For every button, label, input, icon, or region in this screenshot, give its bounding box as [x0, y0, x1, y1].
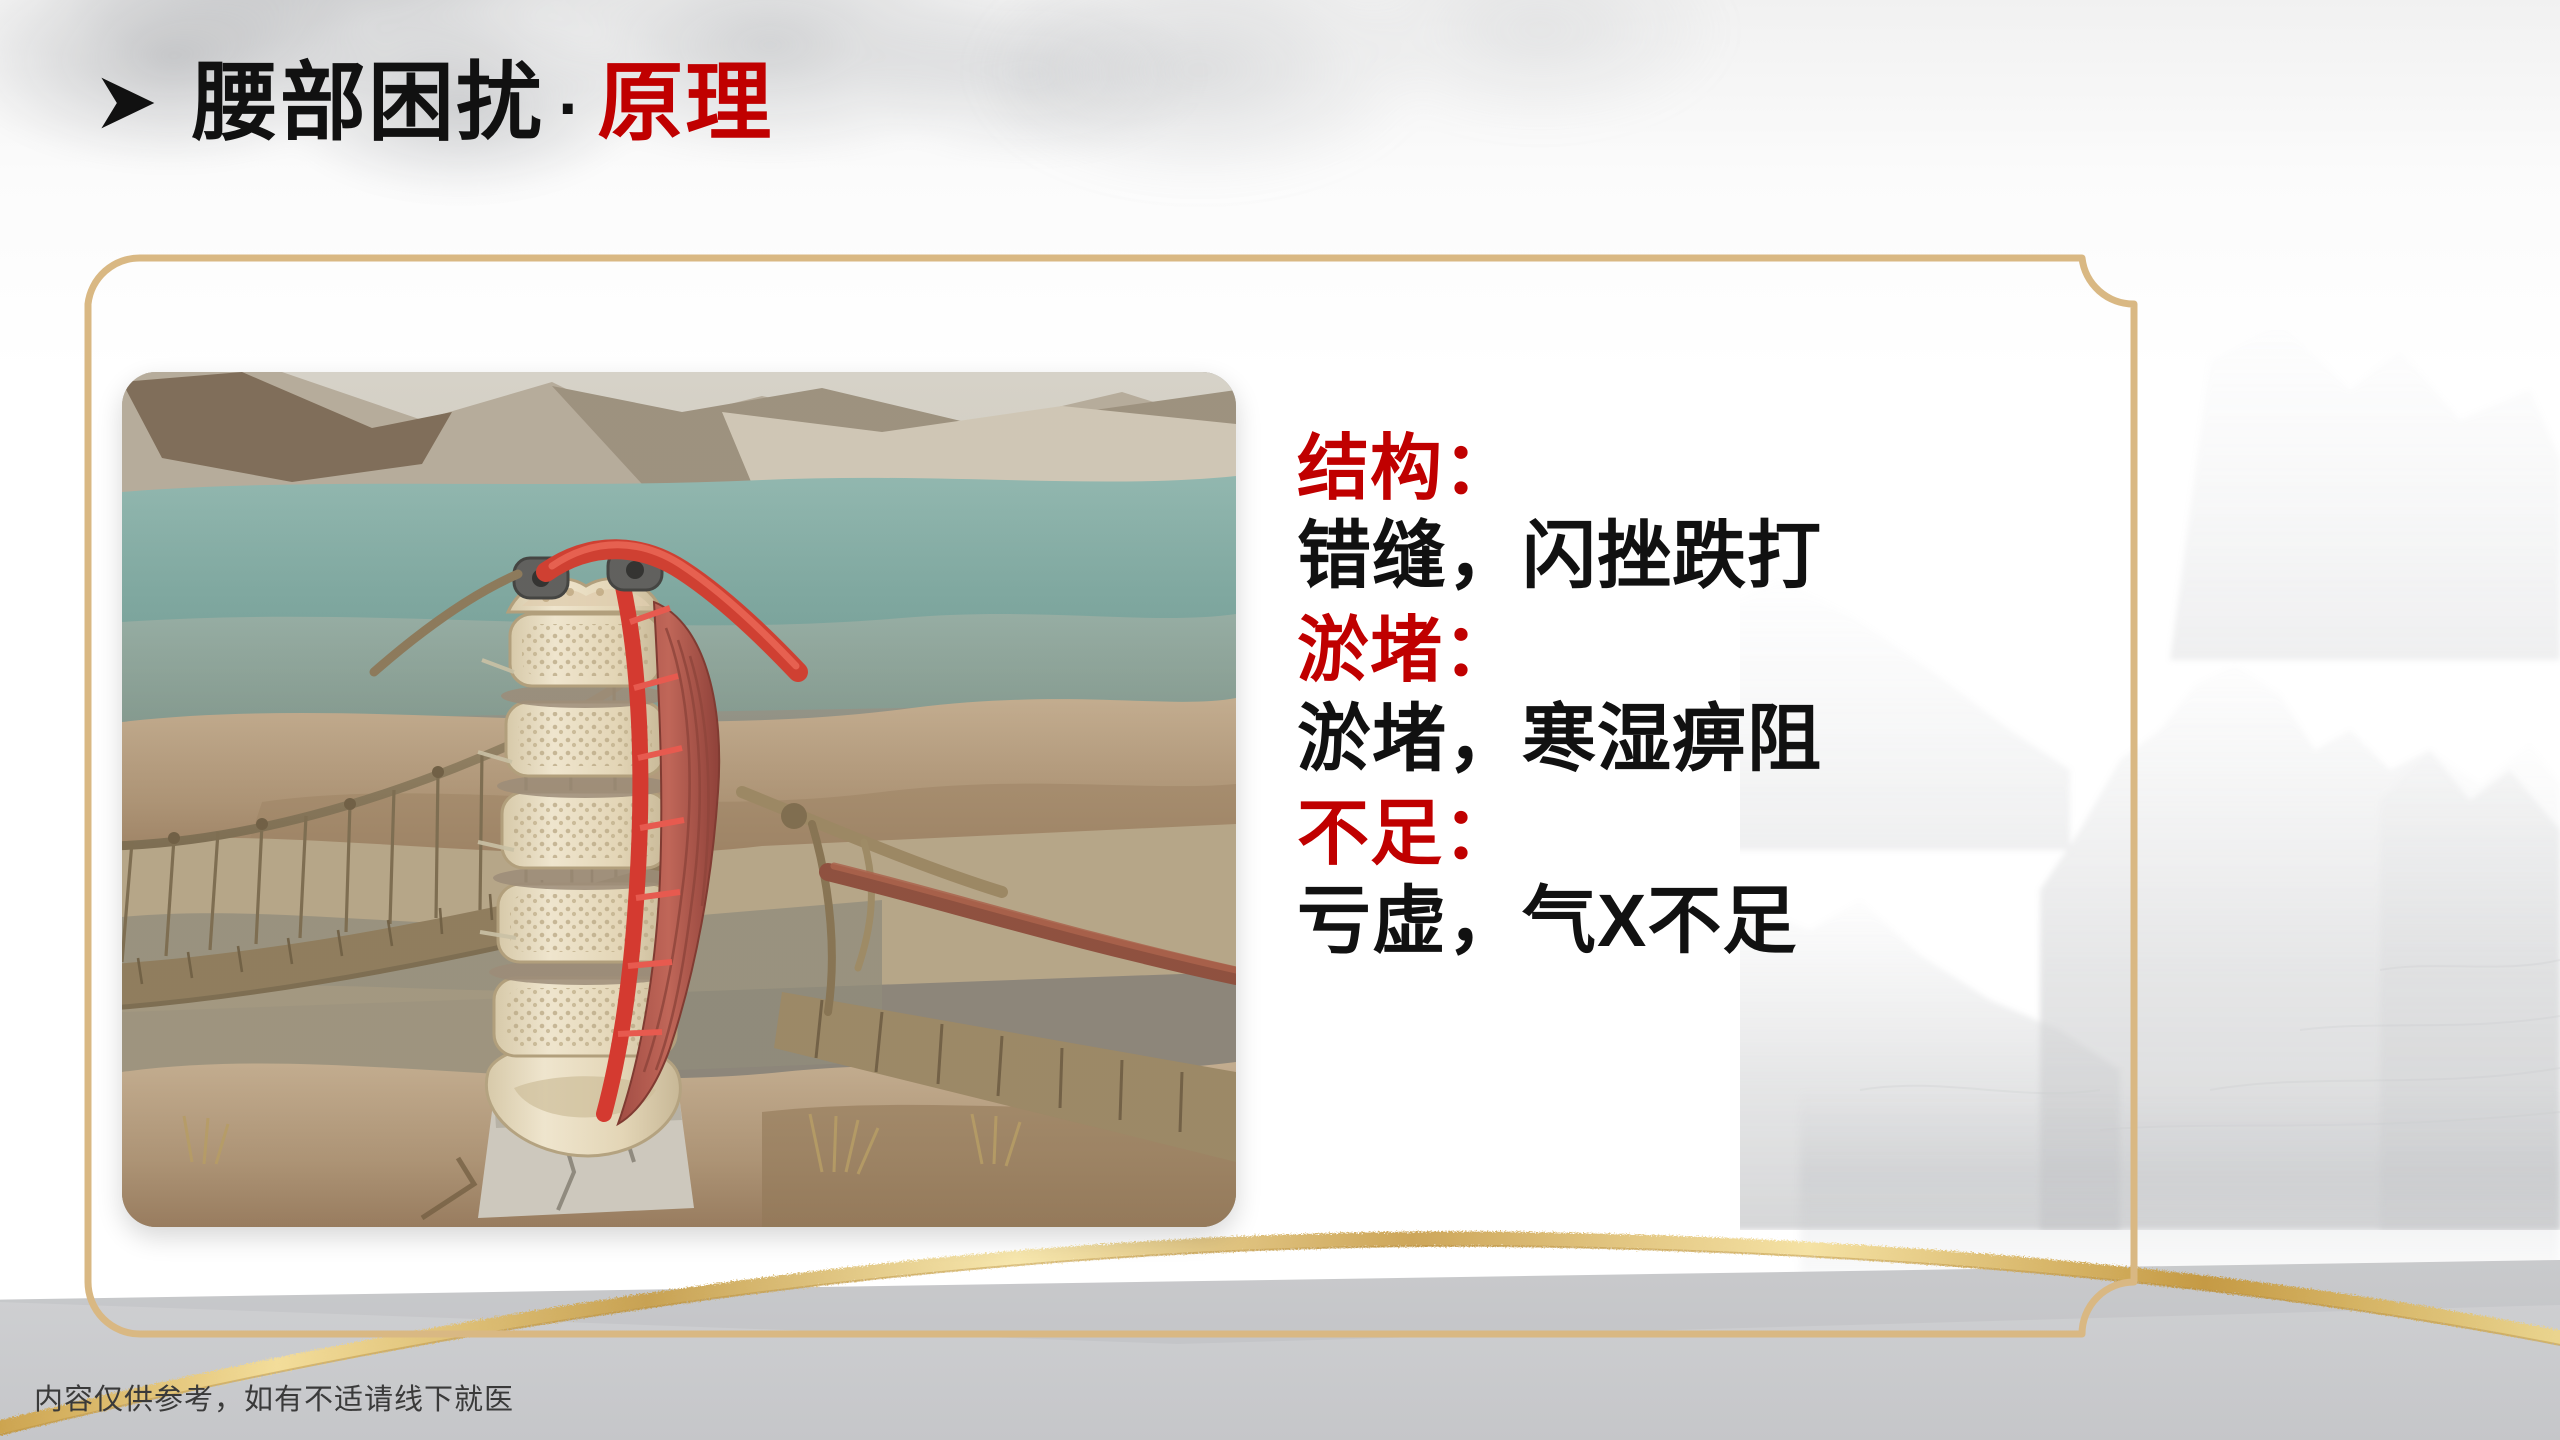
point-body-1: 错缝，闪挫跌打 — [1297, 514, 2117, 598]
page-title-accent: 原理 — [597, 60, 773, 146]
page-title: 腰部困扰 · 原理 — [192, 60, 773, 146]
page-title-main: 腰部困扰 — [192, 60, 544, 146]
points-list: 结构： 错缝，闪挫跌打 淤堵： 淤堵，寒湿痹阻 不足： 亏虚，气X不足 — [1297, 428, 2117, 975]
page-header: 腰部困扰 · 原理 — [96, 60, 773, 146]
point-label-3: 不足： — [1297, 793, 2117, 875]
point-body-3: 亏虚，气X不足 — [1297, 879, 2117, 963]
page-title-separator: · — [544, 73, 597, 143]
slide-content: 结构： 错缝，闪挫跌打 淤堵： 淤堵，寒湿痹阻 不足： 亏虚，气X不足 — [82, 252, 2140, 1340]
disclaimer-text: 内容仅供参考，如有不适请线下就医 — [34, 1376, 514, 1418]
point-label-1: 结构： — [1297, 428, 2117, 510]
illustration-photo — [122, 372, 1236, 1227]
slide-canvas: 腰部困扰 · 原理 — [0, 0, 2560, 1440]
ink-wash-top-right — [900, 0, 1800, 210]
point-label-2: 淤堵： — [1297, 610, 2117, 692]
arrow-bullet-icon — [96, 72, 158, 134]
point-body-2: 淤堵，寒湿痹阻 — [1297, 697, 2117, 781]
